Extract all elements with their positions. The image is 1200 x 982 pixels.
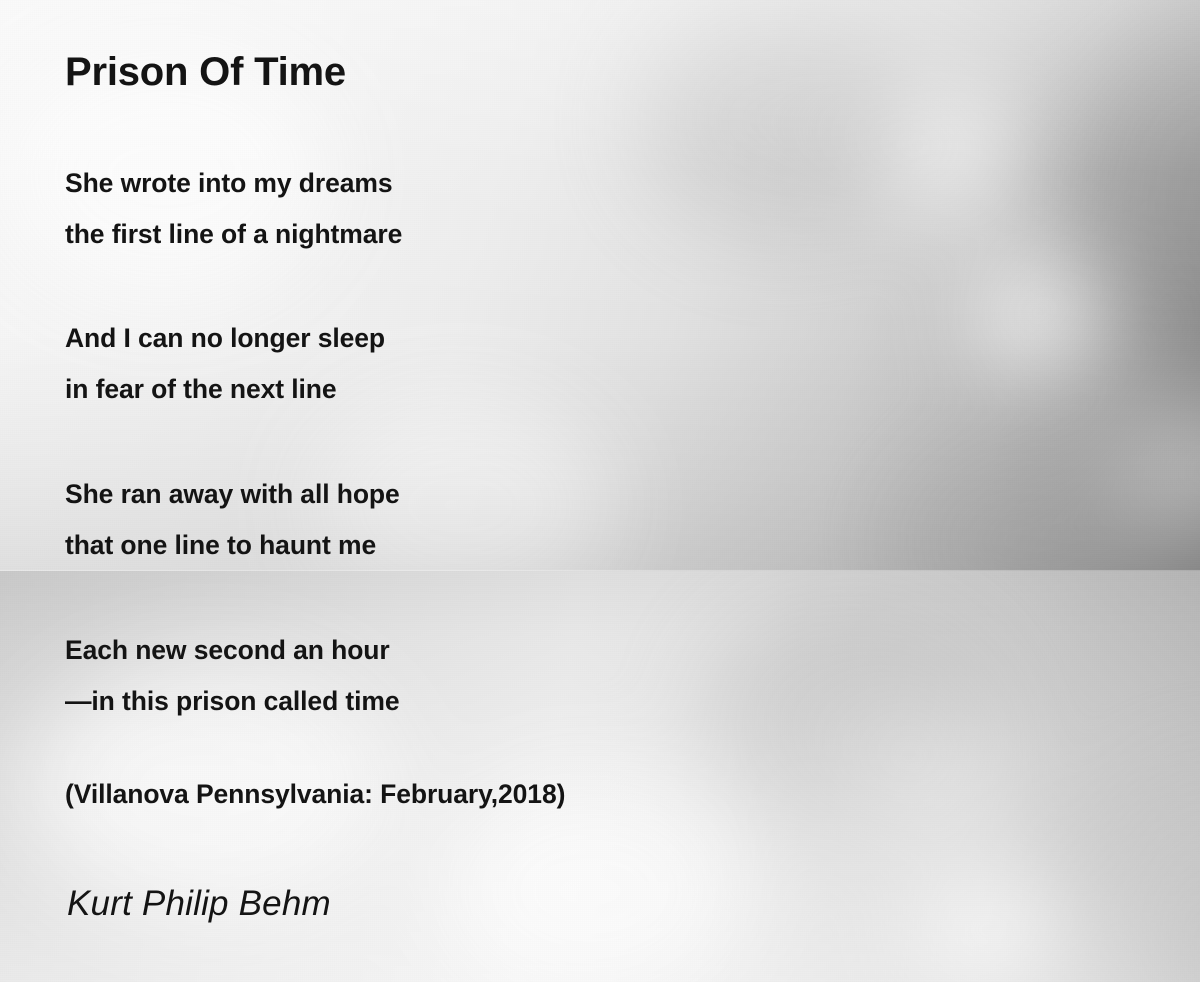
poem-author-signature: Kurt Philip Behm [67, 884, 331, 924]
poem-line: Each new second an hour [65, 625, 400, 676]
poem-title: Prison Of Time [65, 50, 346, 95]
poem-image-canvas: Prison Of Time She wrote into my dreams … [0, 0, 1200, 982]
poem-line: She ran away with all hope [65, 469, 400, 520]
poem-attribution: (Villanova Pennsylvania: February,2018) [65, 779, 565, 810]
poem-stanza: And I can no longer sleep in fear of the… [65, 313, 385, 415]
poem-stanza: Each new second an hour —in this prison … [65, 625, 400, 727]
poem-line: the first line of a nightmare [65, 209, 402, 260]
poem-text-layer: Prison Of Time She wrote into my dreams … [0, 0, 1200, 982]
poem-line: —in this prison called time [65, 676, 400, 727]
poem-stanza: She ran away with all hope that one line… [65, 469, 400, 571]
poem-line: And I can no longer sleep [65, 313, 385, 364]
poem-line: She wrote into my dreams [65, 158, 402, 209]
poem-stanza: She wrote into my dreams the first line … [65, 158, 402, 260]
poem-line: that one line to haunt me [65, 520, 400, 571]
poem-line: in fear of the next line [65, 364, 385, 415]
